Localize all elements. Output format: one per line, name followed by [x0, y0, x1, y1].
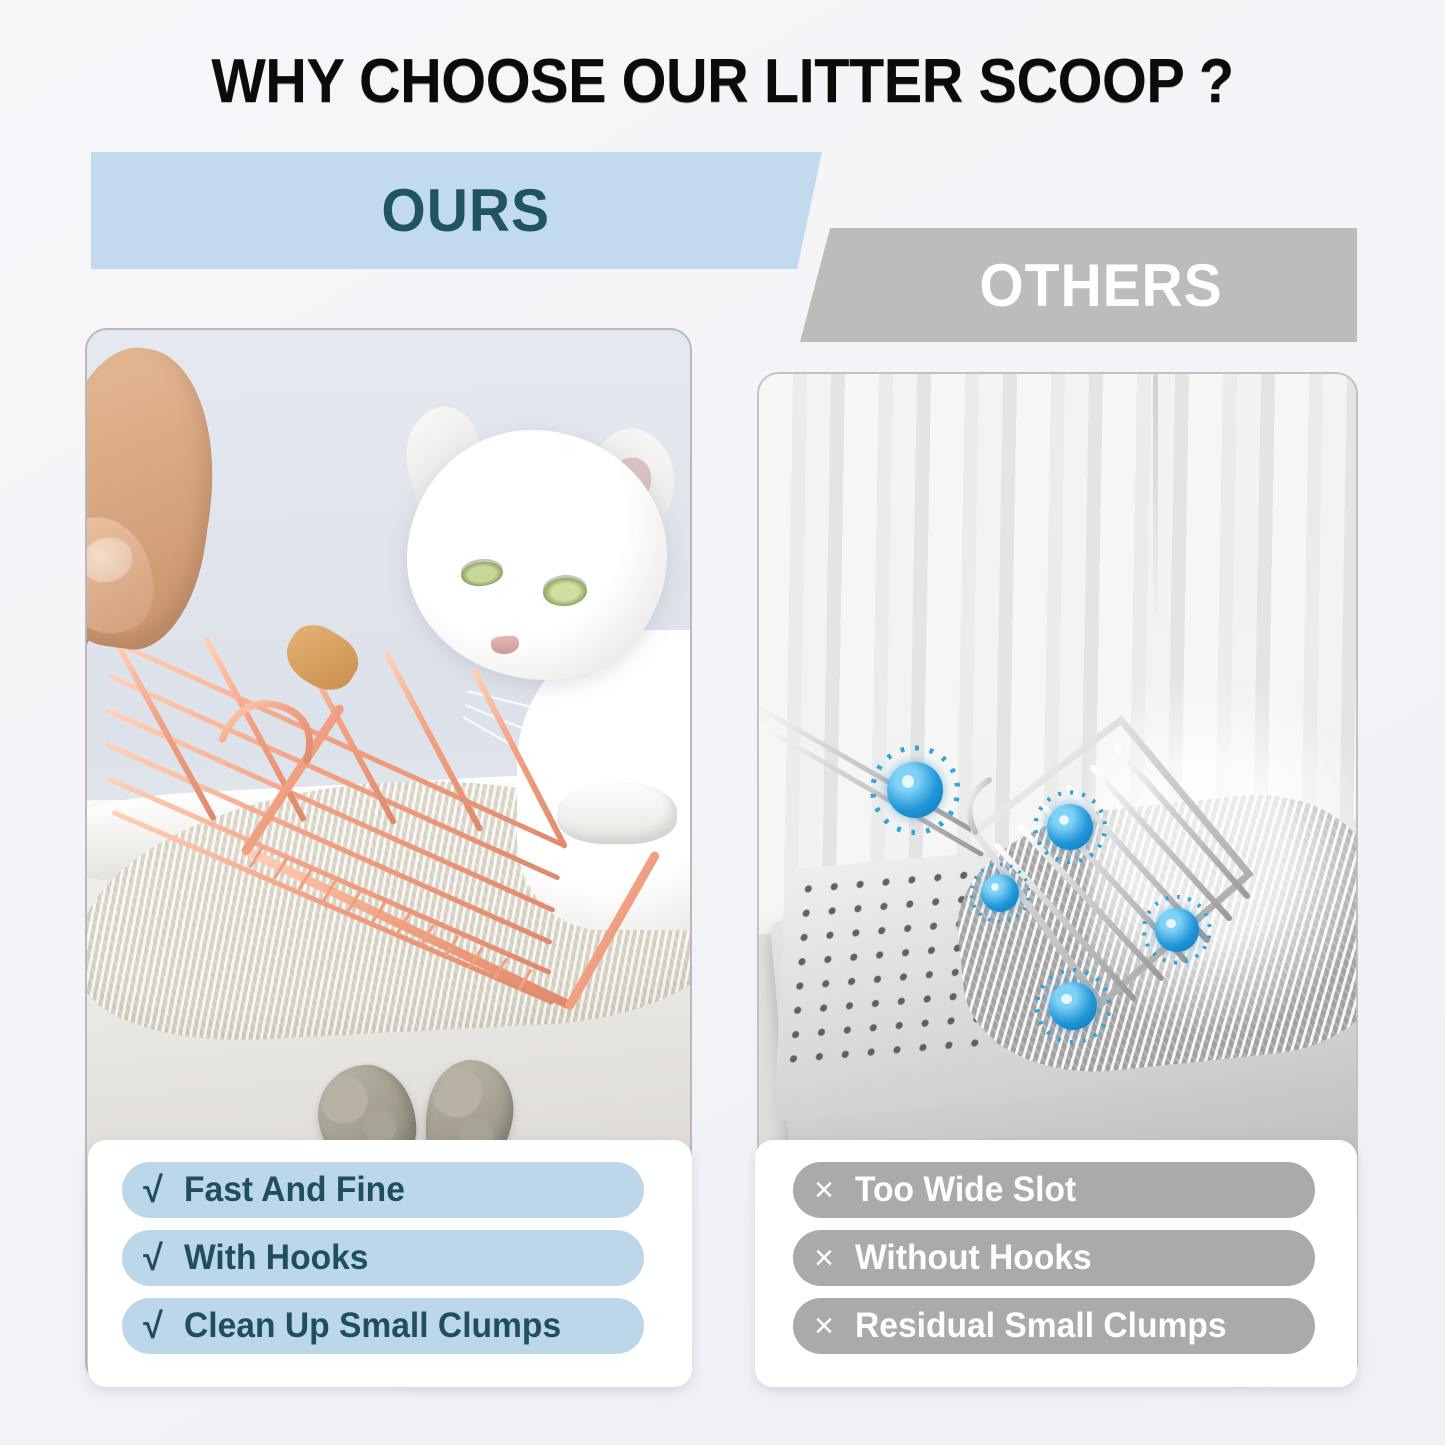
others-feature-label: Too Wide Slot	[855, 1170, 1076, 1210]
ours-feature-label: Fast And Fine	[184, 1170, 405, 1210]
cross-mark-icon: ×	[793, 1239, 855, 1278]
page-title: WHY CHOOSE OUR LITTER SCOOP ?	[51, 46, 1395, 117]
ours-feature-label: Clean Up Small Clumps	[184, 1306, 561, 1346]
rose-gold-scoop	[87, 606, 660, 1025]
ours-feature-card: √ Fast And Fine √ With Hooks √ Clean Up …	[88, 1140, 692, 1387]
others-feature-item-1: × Too Wide Slot	[793, 1162, 1315, 1218]
others-feature-item-3: × Residual Small Clumps	[793, 1298, 1315, 1354]
germ-icon	[887, 762, 943, 818]
others-banner-label: OTHERS	[980, 251, 1223, 320]
ours-feature-label: With Hooks	[184, 1238, 369, 1278]
steel-wire-scoop	[759, 574, 1259, 1034]
others-feature-label: Without Hooks	[855, 1238, 1092, 1278]
cross-mark-icon: ×	[793, 1171, 855, 1210]
ours-banner-label: OURS	[381, 176, 549, 245]
check-mark-icon: √	[122, 1305, 184, 1347]
ours-feature-item-2: √ With Hooks	[122, 1230, 644, 1286]
cross-mark-icon: ×	[793, 1307, 855, 1346]
others-banner: OTHERS	[800, 228, 1357, 342]
ours-banner: OURS	[91, 152, 822, 269]
germ-icon	[981, 874, 1019, 912]
ours-feature-item-3: √ Clean Up Small Clumps	[122, 1298, 644, 1354]
others-feature-item-2: × Without Hooks	[793, 1230, 1315, 1286]
germ-icon	[1047, 804, 1093, 850]
germ-icon	[1155, 908, 1199, 952]
check-mark-icon: √	[122, 1237, 184, 1279]
check-mark-icon: √	[122, 1169, 184, 1211]
others-feature-label: Residual Small Clumps	[855, 1306, 1227, 1346]
others-feature-card: × Too Wide Slot × Without Hooks × Residu…	[755, 1140, 1357, 1387]
germ-icon	[1049, 982, 1097, 1030]
ours-feature-item-1: √ Fast And Fine	[122, 1162, 644, 1218]
